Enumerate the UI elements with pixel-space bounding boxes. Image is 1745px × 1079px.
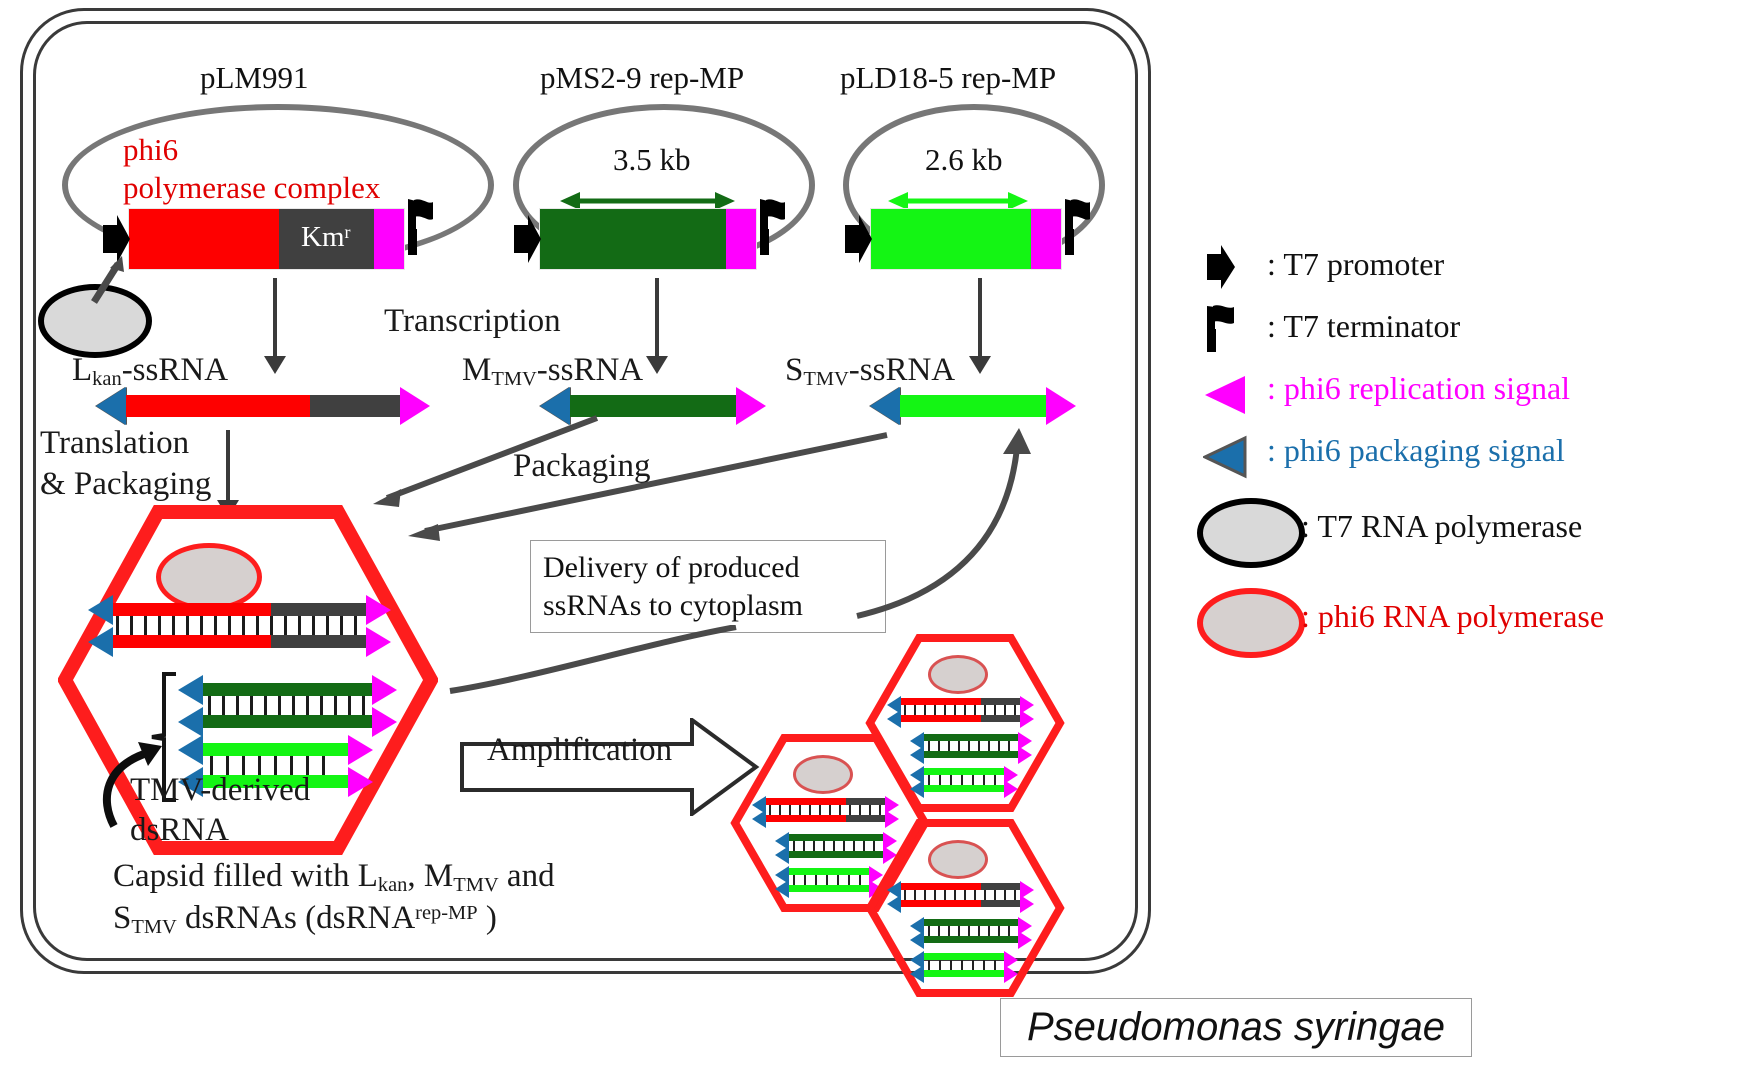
delivery-to-ssrna-arrow	[855, 420, 1045, 620]
legend-item-phi6-replication-signal: : phi6 replication signal	[1195, 362, 1735, 424]
phi6-packaging-icon	[88, 595, 113, 625]
dsrna-m-rungs	[208, 696, 372, 715]
transcription-arrow-1	[273, 278, 277, 360]
transcription-label: Transcription	[384, 303, 561, 341]
dsrna-duplex-l	[88, 595, 400, 657]
s-dsrna-s-top	[924, 768, 1006, 775]
capsid-caption-sub-kan: kan	[378, 874, 408, 896]
phi6-packaging-icon	[96, 387, 126, 425]
t7-terminator-icon	[1061, 199, 1091, 255]
s-dsrna-l-bot-red	[901, 715, 981, 722]
phi6-rna-polymerase	[793, 755, 853, 794]
legend-item-phi6-rna-polymerase: : phi6 RNA polymerase	[1195, 574, 1735, 662]
small-dsrna-l	[887, 881, 1057, 911]
ssrna-s-tail: -ssRNA	[849, 352, 955, 388]
tmv-dsrna-label-line1: TMV-derived	[130, 772, 310, 810]
ssrna-l-main: L	[72, 352, 92, 388]
s-dsrna-m-bot	[924, 936, 1020, 943]
s-dsrna-l-top-red	[901, 883, 981, 890]
small-dsrna-m	[910, 732, 1055, 762]
ssrna-m-green-segment	[570, 395, 742, 417]
phi6-replication-icon	[1203, 372, 1249, 418]
capsid-caption-a: Capsid filled with L	[113, 858, 378, 894]
s-dsrna-m-top	[924, 919, 1020, 926]
phi6-replication-icon	[366, 627, 391, 657]
packaging-arrow-s	[390, 432, 890, 542]
plasmid-cassette-plm991: Kmr	[129, 209, 404, 269]
plasmid-title-pld185: pLD18-5 rep-MP	[840, 60, 1056, 96]
s-dsrna-l-rungs	[904, 890, 1020, 900]
s-dsrna-l-top-red	[766, 798, 846, 805]
phi6-packaging-icon	[775, 880, 789, 898]
s-dsrna-m-top	[924, 734, 1020, 741]
capsid-caption-e: dsRNAs (dsRNA	[177, 900, 415, 936]
transcription-arrow-2-head	[646, 356, 668, 374]
segment-phi6-polymerase	[129, 209, 279, 269]
s-dsrna-l-top-red	[901, 698, 981, 705]
segment-phi6-replication-signal	[1031, 209, 1061, 269]
t7-terminator-icon	[1203, 304, 1237, 354]
dsrna-l-rungs	[116, 616, 366, 635]
s-dsrna-m-bot	[924, 751, 1020, 758]
phi6-replication-icon	[736, 387, 766, 425]
phi6-rna-polymerase	[928, 840, 988, 879]
segment-phi6-replication-signal	[374, 209, 404, 269]
species-label-box: Pseudomonas syringae	[1000, 998, 1472, 1057]
capsid-caption-line1: Capsid filled with Lkan, MTMV and	[113, 858, 555, 898]
kmr-text: Km	[301, 221, 345, 253]
capsid-caption-b: , M	[407, 858, 453, 894]
s-dsrna-l-bot-dark	[981, 900, 1023, 907]
phi6-replication-icon	[1046, 387, 1076, 425]
ssrna-l-red-segment	[126, 395, 310, 417]
phi6-packaging-icon	[752, 810, 766, 828]
s-dsrna-s-rungs	[793, 875, 867, 885]
kmr-superscript: r	[345, 222, 351, 242]
ssrna-m-tail: -ssRNA	[537, 352, 643, 388]
s-dsrna-l-bot-dark	[981, 715, 1023, 722]
dsrna-s-top	[203, 743, 351, 756]
plasmid-cassette-pms29	[540, 209, 756, 269]
delivery-line1: Delivery of produced	[543, 549, 873, 587]
dsrna-l-bot-red	[113, 635, 271, 648]
s-dsrna-s-bot	[924, 785, 1006, 792]
delivery-line2: ssRNAs to cytoplasm	[543, 587, 873, 625]
ssrna-l-dark-segment	[310, 395, 406, 417]
t7-terminator-icon	[756, 199, 786, 255]
segment-tmv-rep-mp-m	[540, 209, 726, 269]
capsid-caption-sub-tmv2: TMV	[131, 916, 176, 938]
phi6-packaging-icon	[910, 780, 924, 798]
phi6-packaging-icon	[775, 846, 789, 864]
s-dsrna-s-rungs	[928, 775, 1002, 785]
phi6-replication-icon	[1018, 746, 1032, 764]
legend-item-phi6-packaging-signal: : phi6 packaging signal	[1195, 424, 1735, 486]
phi6-packaging-icon	[910, 746, 924, 764]
capsid-to-delivery-line	[448, 625, 738, 695]
t7-promoter-icon	[512, 211, 542, 267]
phi6-replication-icon	[1020, 895, 1034, 913]
t7-promoter-icon	[1203, 242, 1237, 292]
legend-label-t7-promoter: : T7 promoter	[1267, 246, 1444, 283]
plm991-inner-label-line1: phi6	[123, 132, 178, 168]
small-dsrna-m	[910, 917, 1055, 947]
dsrna-m-bot	[203, 715, 375, 728]
plm991-inner-label-line2: polymerase complex	[123, 170, 380, 206]
phi6-packaging-icon	[1203, 434, 1249, 480]
polymerase-to-promoter-arrow	[88, 256, 130, 306]
phi6-rna-polymerase	[928, 655, 988, 694]
legend-label-phi6-packaging-signal: : phi6 packaging signal	[1267, 432, 1565, 469]
legend-item-t7-terminator: : T7 terminator	[1195, 300, 1735, 362]
s-dsrna-s-bot	[789, 885, 871, 892]
ssrna-s-main: S	[785, 352, 803, 388]
capsid-caption-line2: STMV dsRNAs (dsRNArep-MP )	[113, 900, 497, 940]
legend: : T7 promoter : T7 terminator : phi6 rep…	[1195, 238, 1735, 662]
phi6-replication-icon	[348, 735, 373, 765]
transcription-arrow-3-head	[969, 356, 991, 374]
phi6-replication-icon	[348, 767, 373, 797]
small-dsrna-s	[910, 766, 1045, 796]
dsrna-l-bot-dark	[271, 635, 369, 648]
kmr-label: Kmr	[301, 221, 350, 254]
t7-rna-polymerase-icon	[1197, 498, 1305, 568]
s-dsrna-l-top-dark	[981, 883, 1023, 890]
s-dsrna-s-bot	[924, 970, 1006, 977]
dsrna-l-top-red	[113, 603, 271, 616]
legend-label-phi6-replication-signal: : phi6 replication signal	[1267, 370, 1570, 407]
pld185-size-label: 2.6 kb	[925, 142, 1003, 178]
s-dsrna-s-top	[789, 868, 871, 875]
small-dsrna-l	[887, 696, 1057, 726]
transcription-arrow-1-head	[264, 356, 286, 374]
capsid-caption-c: and	[499, 858, 555, 894]
phi6-rna-polymerase-icon	[1197, 588, 1305, 658]
small-dsrna-s	[910, 951, 1045, 981]
capsid-caption-d: S	[113, 900, 131, 936]
translation-packaging-arrow	[226, 430, 230, 506]
s-dsrna-l-bot-red	[766, 815, 846, 822]
pms29-size-label: 3.5 kb	[613, 142, 691, 178]
dsrna-l-top-dark	[271, 603, 369, 616]
phi6-packaging-icon	[910, 965, 924, 983]
phi6-replication-icon	[1004, 780, 1018, 798]
phi6-replication-icon	[1018, 931, 1032, 949]
t7-promoter-icon	[843, 211, 873, 267]
legend-item-t7-rna-polymerase: : T7 RNA polymerase	[1195, 486, 1735, 574]
legend-label-t7-rna-polymerase: : T7 RNA polymerase	[1301, 508, 1582, 545]
phi6-replication-icon	[372, 707, 397, 737]
plasmid-title-pms29: pMS2-9 rep-MP	[540, 60, 744, 96]
legend-item-t7-promoter: : T7 promoter	[1195, 238, 1735, 300]
phi6-packaging-icon	[88, 627, 113, 657]
ssrna-m-sub: TMV	[491, 368, 536, 390]
phi6-packaging-icon	[887, 710, 901, 728]
s-dsrna-l-rungs	[904, 705, 1020, 715]
phi6-replication-icon	[1004, 965, 1018, 983]
transcription-arrow-2	[655, 278, 659, 360]
tmv-dsrna-label-line2: dsRNA	[130, 812, 229, 850]
ssrna-s-green-segment	[900, 395, 1052, 417]
phi6-packaging-icon	[887, 895, 901, 913]
ssrna-m-main: M	[462, 352, 491, 388]
translation-packaging-line1: Translation	[40, 425, 189, 463]
s-dsrna-l-top-dark	[981, 698, 1023, 705]
dsrna-m-top	[203, 683, 375, 696]
segment-tmv-rep-mp-s	[871, 209, 1031, 269]
translation-packaging-line2: & Packaging	[40, 466, 211, 504]
segment-phi6-replication-signal	[726, 209, 756, 269]
legend-label-t7-terminator: : T7 terminator	[1267, 308, 1460, 345]
s-dsrna-s-top	[924, 953, 1006, 960]
s-dsrna-l-bot-red	[901, 900, 981, 907]
plasmid-cassette-pld185	[871, 209, 1061, 269]
capsid-caption-sub-tmv: TMV	[453, 874, 498, 896]
transcription-arrow-3	[978, 278, 982, 360]
capsid-caption-f: )	[478, 900, 497, 936]
s-dsrna-m-rungs	[928, 926, 1016, 936]
phi6-replication-icon	[372, 675, 397, 705]
dsrna-duplex-m	[178, 675, 408, 737]
phi6-packaging-icon	[910, 931, 924, 949]
plasmid-title-plm991: pLM991	[200, 60, 309, 96]
amplification-label: Amplification	[487, 732, 672, 770]
t7-terminator-icon	[404, 199, 434, 255]
delivery-label-box: Delivery of produced ssRNAs to cytoplasm	[530, 540, 886, 633]
phi6-replication-icon	[1020, 710, 1034, 728]
ssrna-s-sub: TMV	[803, 368, 848, 390]
s-dsrna-s-rungs	[928, 960, 1002, 970]
s-dsrna-m-rungs	[928, 741, 1016, 751]
ssrna-l-tail: -ssRNA	[122, 352, 228, 388]
capsid-caption-sup-repmp: rep-MP	[415, 902, 477, 924]
phi6-replication-icon	[366, 595, 391, 625]
legend-label-phi6-rna-polymerase: : phi6 RNA polymerase	[1301, 598, 1604, 635]
